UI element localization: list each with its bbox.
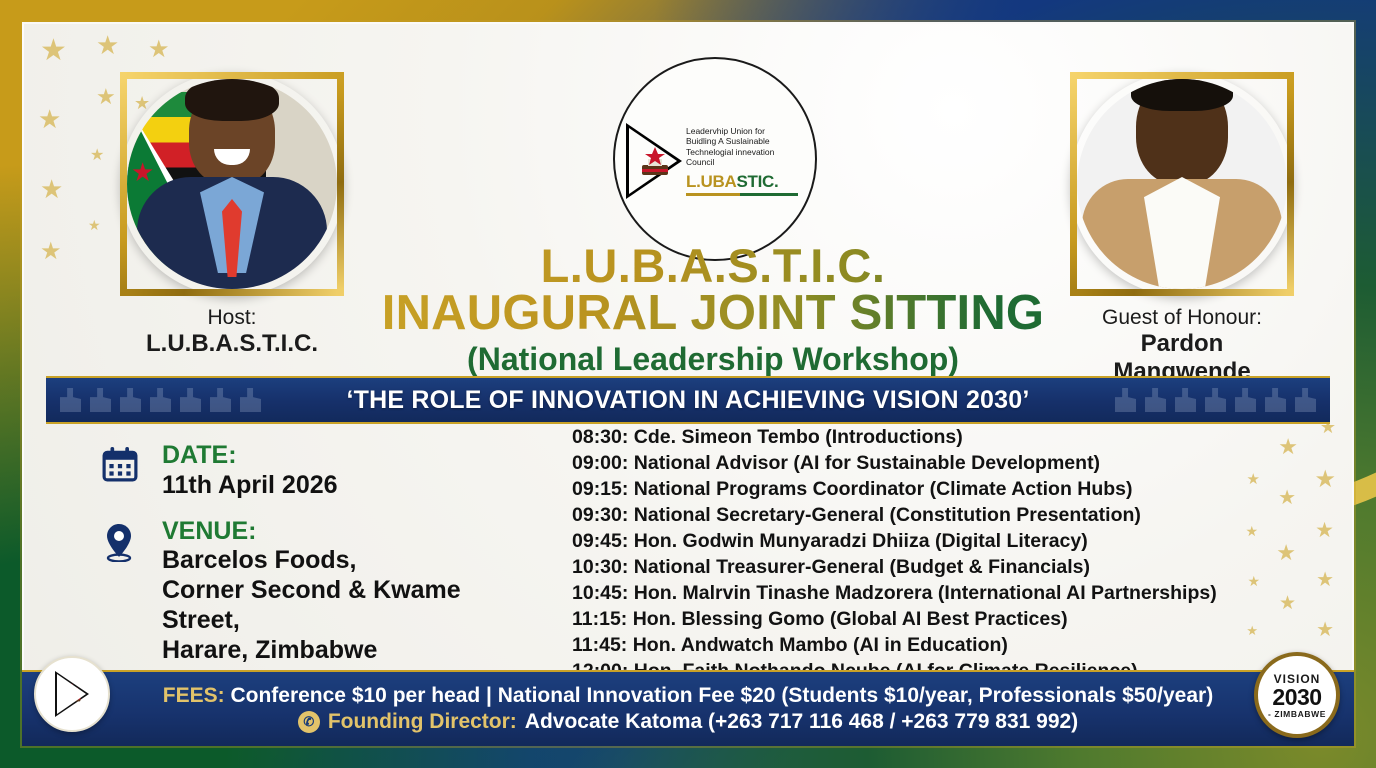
- title-line-2: INAUGURAL JOINT SITTING: [354, 288, 1072, 339]
- host-caption: Host: L.U.B.A.S.T.I.C.: [120, 306, 344, 358]
- crest-icon: [61, 682, 83, 704]
- director-value: Advocate Katoma (+263 717 116 468 / +263…: [525, 710, 1078, 734]
- theme-banner: ‘THE ROLE OF INNOVATION IN ACHIEVING VIS…: [46, 376, 1330, 424]
- agenda-item: 09:15: National Programs Coordinator (Cl…: [572, 476, 1312, 502]
- crest-icon: [638, 145, 672, 179]
- vision-2030-badge: VISION 2030 - ZIMBABWE: [1254, 652, 1340, 738]
- guest-caption: Guest of Honour: Pardon Mangwende: [1070, 306, 1294, 385]
- guest-photo-block: Guest of Honour: Pardon Mangwende: [1070, 72, 1294, 385]
- logo-underline: [686, 193, 798, 196]
- lubastic-logo: Leadervhip Union for Buidling A Suslaina…: [613, 57, 817, 261]
- title-line-1: L.U.B.A.S.T.I.C.: [354, 242, 1072, 290]
- agenda-item: 11:15: Hon. Blessing Gomo (Global AI Bes…: [572, 606, 1312, 632]
- date-label: DATE:: [162, 442, 338, 470]
- event-poster: ★ ★ ★ ★ ★ ★ ★ ★ ★ ★ ★ ★ ★ ★ ★ ★ ★ ★ ★ ★ …: [0, 0, 1376, 768]
- title-subtitle: (National Leadership Workshop): [354, 341, 1072, 378]
- venue-value: Barcelos Foods, Corner Second & Kwame St…: [162, 545, 542, 665]
- location-pin-icon: [102, 518, 144, 666]
- calendar-icon: [102, 442, 144, 500]
- logo-wordmark: L.UBASTIC.: [686, 172, 804, 192]
- detail-row-date: DATE: 11th April 2026: [102, 442, 542, 500]
- date-value: 11th April 2026: [162, 470, 338, 500]
- agenda-item: 11:45: Hon. Andwatch Mambo (AI in Educat…: [572, 632, 1312, 658]
- director-line: ✆ Founding Director: Advocate Katoma (+2…: [298, 710, 1078, 734]
- phone-icon: ✆: [298, 711, 320, 733]
- fees-line: FEES: Conference $10 per head | National…: [163, 684, 1213, 708]
- vision-line-2: 2030: [1272, 686, 1321, 709]
- host-avatar: ★: [120, 72, 344, 296]
- play-triangle-icon: [626, 123, 682, 199]
- host-name: L.U.B.A.S.T.I.C.: [120, 330, 344, 358]
- poster-title-block: L.U.B.A.S.T.I.C. INAUGURAL JOINT SITTING…: [354, 242, 1072, 378]
- host-label: Host:: [120, 306, 344, 330]
- agenda-list: 08:30: Cde. Simeon Tembo (Introductions)…: [572, 424, 1312, 710]
- agenda-item: 09:30: National Secretary-General (Const…: [572, 502, 1312, 528]
- vision-line-3: - ZIMBABWE: [1268, 709, 1326, 719]
- detail-row-venue: VENUE: Barcelos Foods, Corner Second & K…: [102, 518, 542, 666]
- hands-decoration-right: [1115, 378, 1316, 422]
- theme-text: ‘THE ROLE OF INNOVATION IN ACHIEVING VIS…: [346, 386, 1029, 415]
- agenda-item: 10:45: Hon. Malrvin Tinashe Madzorera (I…: [572, 580, 1312, 606]
- director-label: Founding Director:: [328, 710, 517, 734]
- agenda-item: 08:30: Cde. Simeon Tembo (Introductions): [572, 424, 1312, 450]
- venue-label: VENUE:: [162, 518, 542, 546]
- poster-footer: FEES: Conference $10 per head | National…: [22, 670, 1354, 746]
- host-photo-block: ★ Host: L.U.B.A.S.T.I.C.: [120, 72, 344, 358]
- fees-value: Conference $10 per head | National Innov…: [230, 684, 1213, 707]
- lubastic-corner-badge: [34, 656, 110, 732]
- poster-inner-panel: ★ ★ ★ ★ ★ ★ ★ ★ ★ ★ ★ ★ ★ ★ ★ ★ ★ ★ ★ ★ …: [22, 22, 1354, 746]
- logo-tagline: Leadervhip Union for Buidling A Suslaina…: [686, 126, 804, 167]
- guest-figure: [1082, 77, 1282, 289]
- host-figure: [137, 85, 327, 289]
- agenda-item: 09:45: Hon. Godwin Munyaradzi Dhiiza (Di…: [572, 528, 1312, 554]
- fees-label: FEES:: [163, 684, 225, 707]
- guest-avatar: [1070, 72, 1294, 296]
- agenda-item: 09:00: National Advisor (AI for Sustaina…: [572, 450, 1312, 476]
- guest-label: Guest of Honour:: [1070, 306, 1294, 330]
- play-triangle-icon: [55, 671, 89, 717]
- agenda-item: 10:30: National Treasurer-General (Budge…: [572, 554, 1312, 580]
- hands-decoration-left: [60, 378, 261, 422]
